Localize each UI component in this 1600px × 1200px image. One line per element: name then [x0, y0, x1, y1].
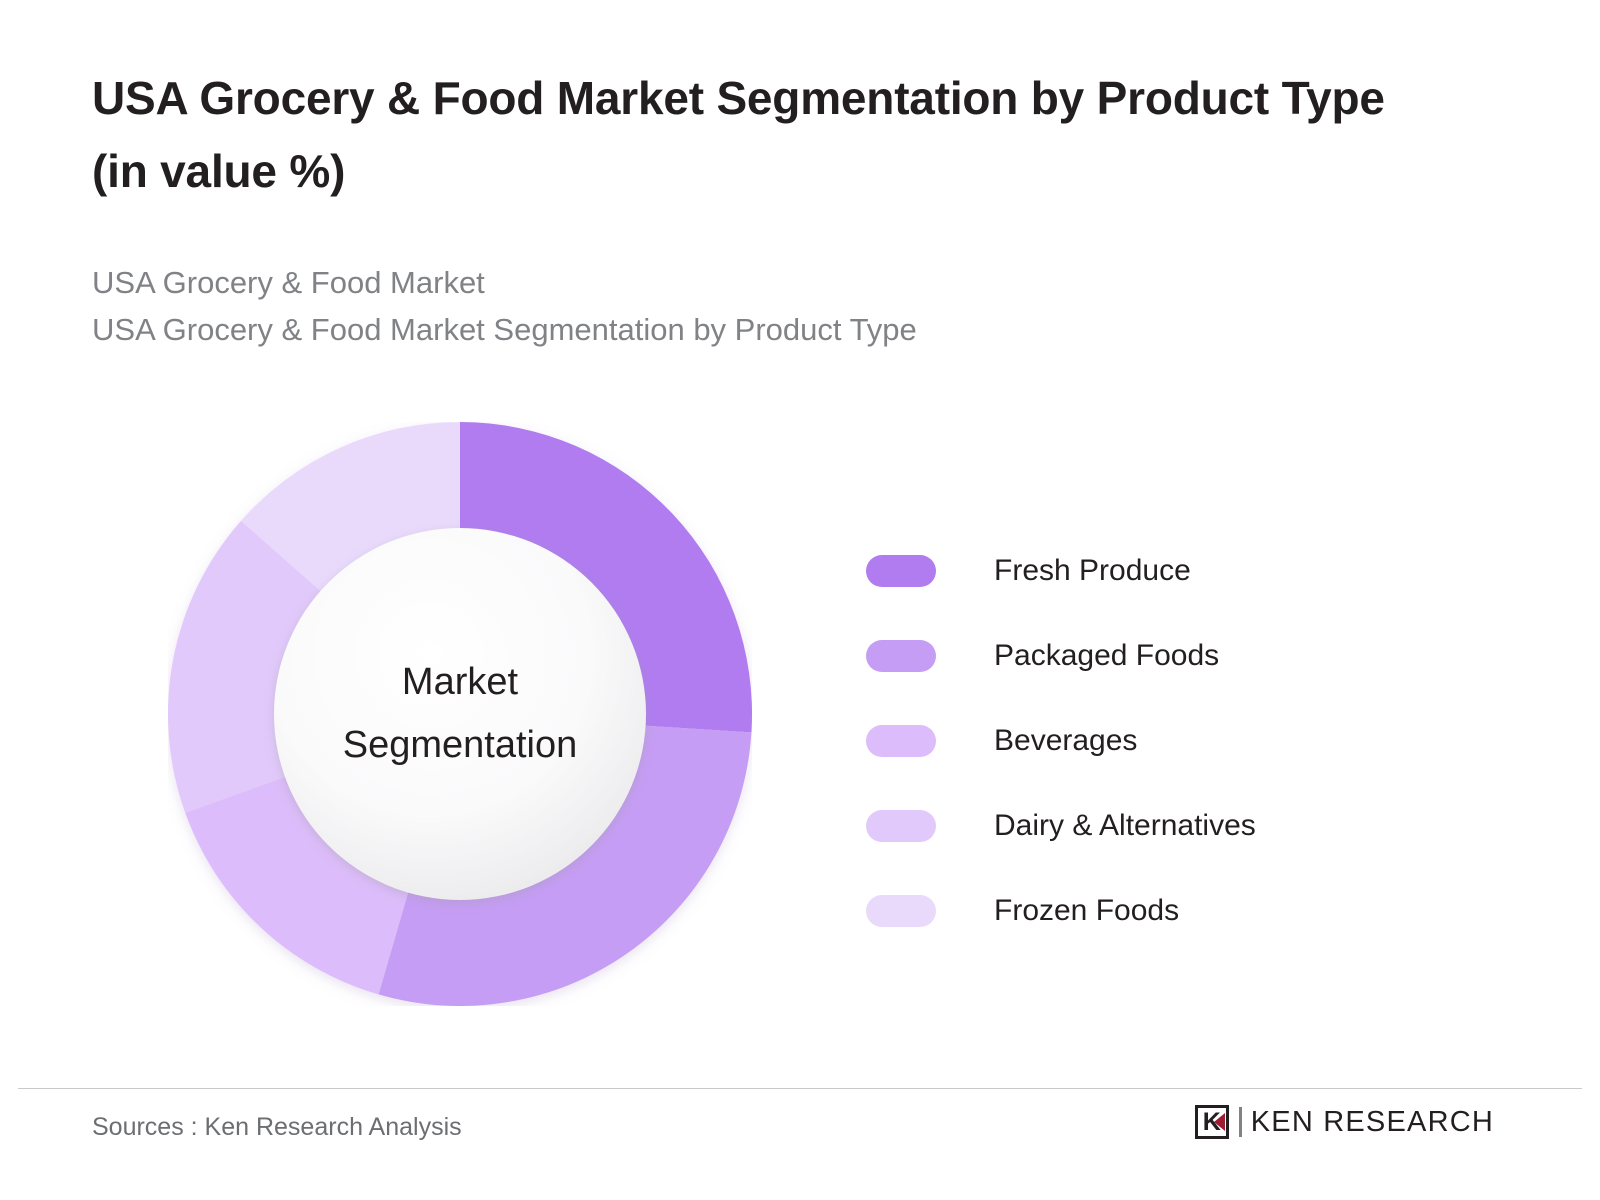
slide-root: USA Grocery & Food Market Segmentation b… — [0, 0, 1600, 1200]
logo-k-mark-icon: K — [1195, 1105, 1229, 1139]
legend-item-label: Frozen Foods — [994, 894, 1179, 928]
chart-area: Fresh Produce 26%Packaged Foods 28.5%Bev… — [0, 400, 1600, 1040]
legend-item[interactable]: Fresh Produce — [866, 528, 1486, 613]
legend-swatch-icon — [866, 640, 936, 672]
donut-chart: Fresh Produce 26%Packaged Foods 28.5%Bev… — [168, 422, 752, 1006]
legend-item-label: Dairy & Alternatives — [994, 809, 1256, 843]
sources-label: Sources : Ken Research Analysis — [92, 1113, 462, 1142]
legend-item-label: Fresh Produce — [994, 554, 1191, 588]
legend-swatch-icon — [866, 725, 936, 757]
header: USA Grocery & Food Market Segmentation b… — [92, 62, 1472, 354]
subtitle-line-2: USA Grocery & Food Market Segmentation b… — [92, 306, 1472, 353]
legend-swatch-icon — [866, 555, 936, 587]
logo-divider-icon — [1239, 1107, 1242, 1137]
legend-item[interactable]: Packaged Foods — [866, 613, 1486, 698]
ken-research-logo: K KEN RESEARCH — [1195, 1105, 1494, 1139]
legend-item-label: Packaged Foods — [994, 639, 1219, 673]
footer: Sources : Ken Research Analysis K KEN RE… — [0, 1089, 1600, 1200]
donut-hole — [274, 528, 646, 900]
page-title: USA Grocery & Food Market Segmentation b… — [92, 62, 1422, 207]
logo-k-letter: K — [1203, 1110, 1221, 1135]
logo-wordmark: KEN RESEARCH — [1251, 1106, 1494, 1139]
legend-item-label: Beverages — [994, 724, 1137, 758]
legend-item[interactable]: Dairy & Alternatives — [866, 783, 1486, 868]
legend-item[interactable]: Frozen Foods — [866, 868, 1486, 953]
legend-item[interactable]: Beverages — [866, 698, 1486, 783]
subtitle-block: USA Grocery & Food Market USA Grocery & … — [92, 259, 1472, 353]
chart-legend: Fresh ProducePackaged FoodsBeveragesDair… — [866, 528, 1486, 953]
legend-swatch-icon — [866, 810, 936, 842]
subtitle-line-1: USA Grocery & Food Market — [92, 259, 1472, 306]
donut-chart-svg: Fresh Produce 26%Packaged Foods 28.5%Bev… — [168, 422, 752, 1006]
legend-swatch-icon — [866, 895, 936, 927]
